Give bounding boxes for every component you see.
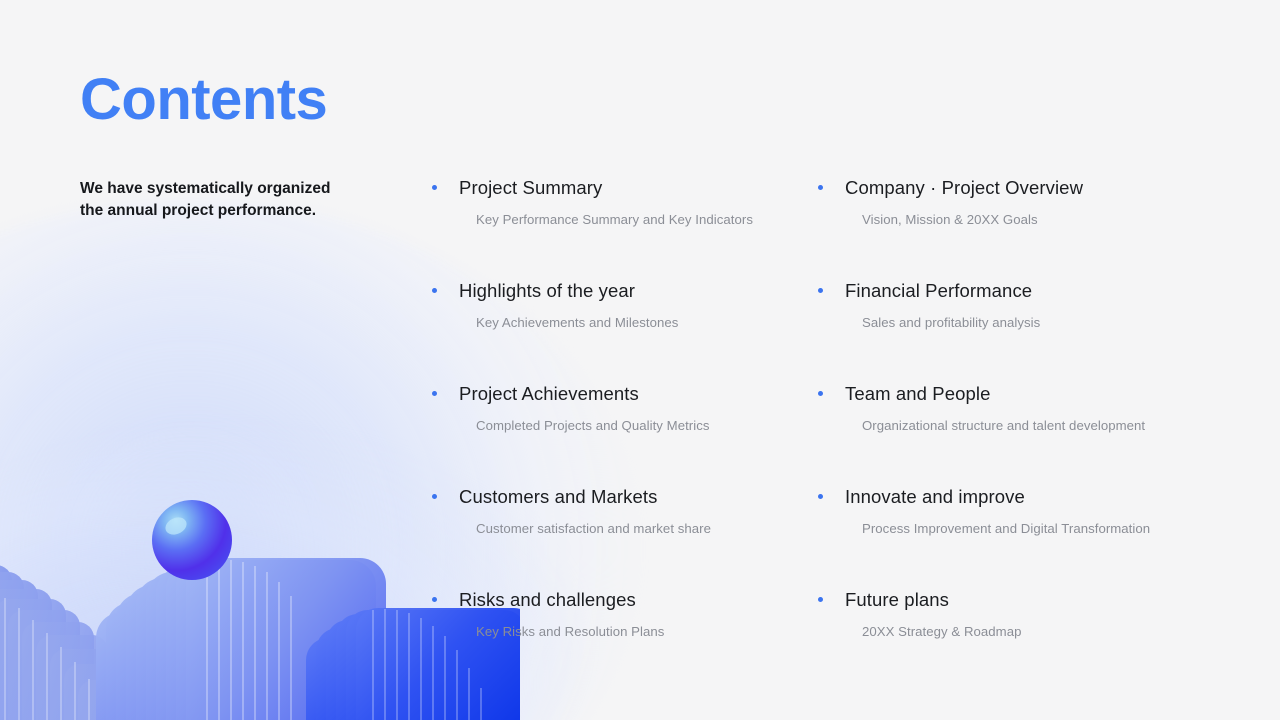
- hill-middle: [96, 558, 386, 720]
- hill-left: [0, 565, 150, 720]
- toc-item[interactable]: Risks and challenges Key Risks and Resol…: [432, 588, 818, 691]
- bullet-icon: [432, 597, 437, 602]
- toc-item-title: Project Summary: [459, 176, 602, 199]
- toc-item-subtitle: Sales and profitability analysis: [862, 314, 1204, 331]
- toc-item-subtitle: 20XX Strategy & Roadmap: [862, 623, 1204, 640]
- bullet-icon: [818, 494, 823, 499]
- toc-item-title: Innovate and improve: [845, 485, 1025, 508]
- toc-item[interactable]: Company · Project Overview Vision, Missi…: [818, 176, 1204, 279]
- toc-item[interactable]: Future plans 20XX Strategy & Roadmap: [818, 588, 1204, 691]
- toc-item-subtitle: Organizational structure and talent deve…: [862, 417, 1204, 434]
- bullet-icon: [818, 391, 823, 396]
- toc-item[interactable]: Customers and Markets Customer satisfact…: [432, 485, 818, 588]
- toc-item[interactable]: Team and People Organizational structure…: [818, 382, 1204, 485]
- intro-text: We have systematically organized the ann…: [80, 178, 400, 223]
- bullet-icon: [432, 185, 437, 190]
- toc-item[interactable]: Innovate and improve Process Improvement…: [818, 485, 1204, 588]
- toc-item[interactable]: Financial Performance Sales and profitab…: [818, 279, 1204, 382]
- bullet-icon: [818, 597, 823, 602]
- toc-item-subtitle: Key Performance Summary and Key Indicato…: [476, 211, 818, 228]
- toc-item-title: Future plans: [845, 588, 949, 611]
- toc-item-title: Team and People: [845, 382, 991, 405]
- toc-item-title: Company · Project Overview: [845, 176, 1083, 199]
- toc-item-subtitle: Key Risks and Resolution Plans: [476, 623, 818, 640]
- toc-item-title: Customers and Markets: [459, 485, 657, 508]
- toc-item-title: Highlights of the year: [459, 279, 635, 302]
- toc-item[interactable]: Project Achievements Completed Projects …: [432, 382, 818, 485]
- bullet-icon: [432, 288, 437, 293]
- toc-item-subtitle: Customer satisfaction and market share: [476, 520, 818, 537]
- bullet-icon: [432, 494, 437, 499]
- table-of-contents: Project Summary Key Performance Summary …: [432, 176, 1232, 691]
- toc-column-left: Project Summary Key Performance Summary …: [432, 176, 818, 691]
- toc-item[interactable]: Project Summary Key Performance Summary …: [432, 176, 818, 279]
- toc-item-title: Risks and challenges: [459, 588, 636, 611]
- toc-item-title: Project Achievements: [459, 382, 639, 405]
- toc-item-title: Financial Performance: [845, 279, 1032, 302]
- toc-item-subtitle: Vision, Mission & 20XX Goals: [862, 211, 1204, 228]
- toc-item-subtitle: Process Improvement and Digital Transfor…: [862, 520, 1204, 537]
- bullet-icon: [432, 391, 437, 396]
- toc-item-subtitle: Completed Projects and Quality Metrics: [476, 417, 818, 434]
- bullet-icon: [818, 288, 823, 293]
- toc-column-right: Company · Project Overview Vision, Missi…: [818, 176, 1204, 691]
- contents-slide: Contents We have systematically organize…: [0, 0, 1280, 720]
- page-title: Contents: [80, 70, 327, 131]
- toc-item[interactable]: Highlights of the year Key Achievements …: [432, 279, 818, 382]
- gradient-sphere: [152, 500, 232, 580]
- toc-item-subtitle: Key Achievements and Milestones: [476, 314, 818, 331]
- bullet-icon: [818, 185, 823, 190]
